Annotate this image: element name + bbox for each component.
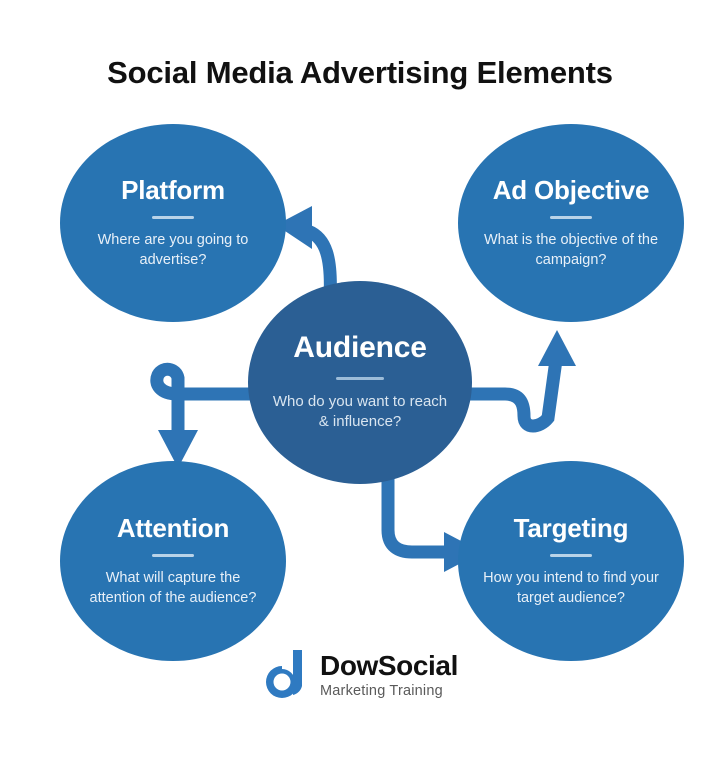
node-platform-description: Where are you going to advertise? <box>78 230 268 270</box>
node-attention-divider <box>152 554 194 557</box>
node-targeting-description: How you intend to find your target audie… <box>476 568 666 608</box>
node-audience-description: Who do you want to reach & influence? <box>266 392 454 433</box>
node-ad-objective-title: Ad Objective <box>493 176 650 205</box>
node-targeting-divider <box>550 554 592 557</box>
node-audience[interactable]: Audience Who do you want to reach & infl… <box>248 281 472 484</box>
node-attention-title: Attention <box>117 514 229 542</box>
node-targeting-title: Targeting <box>514 514 629 542</box>
node-platform[interactable]: Platform Where are you going to advertis… <box>60 124 286 322</box>
node-platform-title: Platform <box>121 176 225 204</box>
brand-tagline: Marketing Training <box>320 684 443 699</box>
node-platform-divider <box>152 216 194 219</box>
brand-logo-text: DowSocial Marketing Training <box>320 652 458 699</box>
infographic-canvas: Social Media Advertising Elements .conn … <box>0 0 720 766</box>
connector-audience-to-ad-objective <box>468 330 576 426</box>
node-ad-objective-divider <box>550 216 592 219</box>
brand-logo: DowSocial Marketing Training <box>0 648 720 702</box>
node-audience-title: Audience <box>293 332 426 364</box>
node-targeting[interactable]: Targeting How you intend to find your ta… <box>458 461 684 661</box>
node-ad-objective[interactable]: Ad Objective What is the objective of th… <box>458 124 684 322</box>
node-attention-description: What will capture the attention of the a… <box>78 568 268 608</box>
dowsocial-d-mark-icon <box>262 648 308 702</box>
connector-audience-to-attention <box>157 369 262 468</box>
brand-name: DowSocial <box>320 652 458 680</box>
node-audience-divider <box>336 377 384 380</box>
node-attention[interactable]: Attention What will capture the attentio… <box>60 461 286 661</box>
node-ad-objective-description: What is the objective of the campaign? <box>476 230 666 270</box>
